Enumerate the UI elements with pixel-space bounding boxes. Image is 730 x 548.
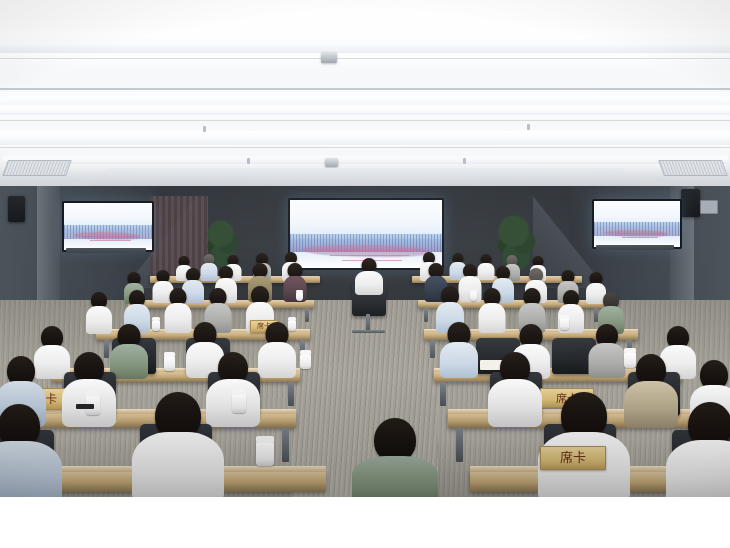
attendee-torso xyxy=(478,303,505,333)
attendee-r3-7 xyxy=(478,288,505,332)
right-screen-image xyxy=(594,201,680,247)
desk-leg xyxy=(282,428,289,462)
ceiling-light-strip-3 xyxy=(0,108,730,115)
attendee-r6-4 xyxy=(666,402,730,497)
attendee-r6-5 xyxy=(352,418,438,497)
attendee-r6-2 xyxy=(538,392,630,497)
teacup-lid xyxy=(164,352,175,357)
desk-microphone-left xyxy=(76,404,94,409)
attendee-torso xyxy=(666,440,730,497)
teacup-lid xyxy=(86,391,100,397)
left-screen-watermark: · xyxy=(145,211,146,215)
teacup-lid xyxy=(296,290,303,293)
desk-leg xyxy=(424,308,428,322)
sprinkler-1 xyxy=(203,126,206,132)
attendee-torso xyxy=(488,379,542,427)
attendee-torso xyxy=(86,306,112,334)
teacup xyxy=(560,318,569,330)
attendee-r3-1 xyxy=(86,292,112,332)
attendee-r4-5 xyxy=(440,322,478,376)
teacup-lid xyxy=(560,315,569,319)
teacup-lid xyxy=(232,389,246,395)
ceiling-light-strip-4 xyxy=(0,131,730,145)
teacup-lid xyxy=(624,348,636,353)
ceiling-air-vent-right xyxy=(658,160,728,176)
desk-leg xyxy=(456,428,463,462)
attendee-r4-7 xyxy=(588,324,625,376)
teacup xyxy=(164,356,175,371)
screenshot-canvas: · · · · xyxy=(0,0,730,548)
teacup xyxy=(470,292,477,301)
wall-speaker-right xyxy=(681,189,700,217)
conference-room-photograph: · · · · xyxy=(0,0,730,497)
left-side-screen: · xyxy=(62,201,154,252)
teacup-lid xyxy=(256,436,274,443)
teacup xyxy=(232,394,246,413)
sprinkler-2 xyxy=(527,124,530,130)
presenter-chair-base xyxy=(352,330,385,333)
attendee-torso xyxy=(0,441,62,497)
desk-leg xyxy=(288,382,294,406)
presenter-front-center xyxy=(355,258,383,292)
left-screen-mount xyxy=(66,248,146,253)
attendee-r5-4 xyxy=(488,352,542,422)
ceiling-air-vent-left xyxy=(2,160,72,176)
teacup xyxy=(296,292,303,301)
ceiling-light-strip-2 xyxy=(0,96,730,105)
wall-speaker-left xyxy=(8,196,25,222)
presenter-torso xyxy=(355,271,383,295)
column-left xyxy=(37,186,60,306)
attendee-torso xyxy=(258,342,296,378)
teacup-lid xyxy=(152,317,160,321)
desk-leg xyxy=(305,308,309,322)
ceiling-sensor-1 xyxy=(321,52,337,63)
attendee-torso xyxy=(352,456,438,497)
left-screen-image xyxy=(64,203,152,250)
desk-leg xyxy=(430,340,435,358)
attendee-torso xyxy=(132,432,224,497)
teacup xyxy=(300,354,311,369)
right-screen-mount xyxy=(596,245,674,250)
ceiling-light-strip-1 xyxy=(0,36,730,53)
ceiling-seam-4 xyxy=(0,147,730,148)
ceiling-seam-3 xyxy=(0,120,730,121)
ceiling-seam-1 xyxy=(0,58,730,59)
desk-leg xyxy=(440,382,446,406)
ceiling-sensor-2 xyxy=(325,158,338,167)
main-screen-watermark: · · · xyxy=(427,211,433,215)
sprinkler-3 xyxy=(247,158,250,164)
attendee-torso xyxy=(440,342,478,378)
teacup xyxy=(152,320,160,331)
sprinkler-4 xyxy=(463,158,466,164)
teacup xyxy=(256,442,274,466)
attendee-r6-1 xyxy=(132,392,224,497)
nameplate-foreground: 席卡 xyxy=(540,446,606,470)
attendee-r6-3 xyxy=(0,404,62,497)
attendee-r4-4 xyxy=(258,322,296,376)
ceiling-light-strip-5 xyxy=(2,156,727,164)
right-side-screen xyxy=(592,199,682,249)
teacup-lid xyxy=(300,350,311,355)
ceiling-seam-2 xyxy=(0,88,730,90)
attendee-torso xyxy=(588,343,625,378)
wall-sign-right xyxy=(700,200,718,214)
ceiling xyxy=(0,0,730,192)
teacup-lid xyxy=(470,290,477,293)
teacup-lid xyxy=(288,317,296,321)
